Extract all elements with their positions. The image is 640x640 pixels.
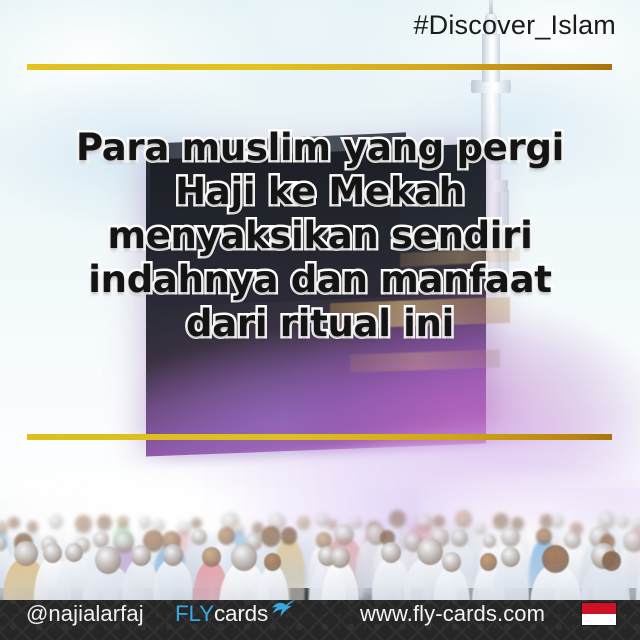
quote-line-2: Haji ke Mekah	[0, 170, 640, 214]
pilgrim-head	[480, 553, 497, 571]
pilgrim-head	[97, 515, 112, 531]
pilgrim-head	[330, 547, 350, 568]
quote-line-4: indahnya dan manfaat	[0, 258, 640, 302]
pilgrim-head	[177, 521, 191, 535]
gold-rule-top	[27, 64, 612, 70]
pilgrim-head	[617, 516, 629, 528]
pilgrim-head	[501, 527, 520, 547]
social-media-card: #Discover_Islam Para muslim yang pergi H…	[0, 0, 640, 640]
minaret-upper-shaft	[482, 34, 500, 82]
pilgrim-head	[415, 513, 433, 531]
pilgrim-head	[117, 516, 128, 528]
pilgrim-head	[623, 530, 640, 552]
flag-stripe-white	[582, 614, 616, 625]
pilgrim-head	[163, 544, 184, 566]
pilgrim-head	[139, 516, 151, 529]
pilgrim-head	[131, 545, 151, 566]
brand-name-cards: cards	[214, 601, 268, 627]
pilgrim-head	[261, 526, 281, 547]
pilgrim-head	[231, 543, 257, 571]
quote-line-5: dari ritual ini	[0, 302, 640, 346]
pilgrim-head	[27, 521, 38, 532]
pilgrim-head	[218, 527, 235, 545]
pilgrim-head	[501, 547, 520, 567]
pilgrim-head	[551, 514, 564, 528]
pilgrim-head	[191, 518, 202, 530]
pilgrim-head	[264, 553, 281, 571]
pilgrim-head	[14, 541, 37, 566]
pilgrim-head	[632, 518, 640, 530]
quote-line-1: Para muslim yang pergi	[0, 126, 640, 170]
pilgrim-head	[433, 515, 446, 528]
flycards-logo[interactable]: FLYcards	[175, 601, 296, 627]
brand-name-fly: FLY	[175, 601, 214, 627]
pilgrim-head	[475, 523, 486, 535]
bird-icon	[270, 597, 296, 623]
quote-text: Para muslim yang pergi Haji ke Mekah men…	[0, 126, 640, 346]
pilgrim-head	[442, 552, 462, 572]
pilgrim-head	[95, 546, 122, 574]
hashtag: #Discover_Islam	[413, 10, 616, 41]
pilgrim-head	[202, 547, 221, 567]
gold-rule-bottom	[27, 434, 612, 440]
pilgrim-head	[75, 515, 92, 532]
pilgrim-head	[281, 527, 298, 544]
flag-stripe-red	[582, 603, 616, 614]
quote-line-3: menyaksikan sendiri	[0, 214, 640, 258]
pilgrim-head	[297, 516, 310, 530]
social-handle[interactable]: @najialarfaj	[26, 601, 144, 627]
indonesia-flag	[581, 602, 617, 626]
website-url[interactable]: www.fly-cards.com	[360, 601, 545, 627]
